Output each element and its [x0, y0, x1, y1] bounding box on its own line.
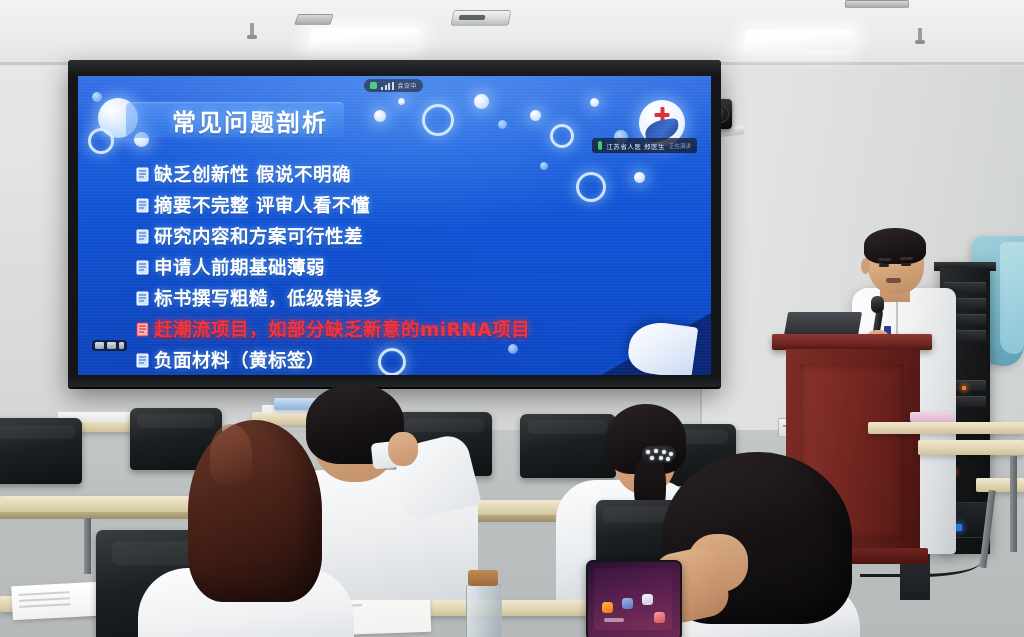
app-icon[interactable] [622, 598, 633, 609]
speaker-hair [864, 228, 926, 264]
list-item: 申请人前期基础薄弱 [134, 257, 654, 280]
desk [868, 422, 1024, 434]
status-badge[interactable]: 会议中 [364, 79, 423, 92]
sprinkler-left [250, 23, 254, 39]
list-item-text: 赶潮流项目，如部分缺乏新意的miRNA项目 [154, 320, 530, 342]
bubble-decoration [92, 92, 102, 102]
recording-dot-icon [370, 82, 377, 89]
list-item-text: 研究内容和方案可行性差 [154, 227, 363, 249]
participant-status: 正在演讲 [669, 142, 691, 150]
microphone-icon [598, 141, 602, 150]
bottle-cap [468, 570, 498, 586]
bubble-decoration [474, 94, 489, 109]
list-item: 摘要不完整 评审人看不懂 [134, 195, 654, 218]
list-item-text: 摘要不完整 评审人看不懂 [154, 196, 370, 218]
app-label [604, 618, 624, 622]
ceiling [0, 0, 1024, 66]
list-item: 研究内容和方案可行性差 [134, 226, 654, 249]
bubble-decoration [530, 110, 541, 121]
book-marker-icon [134, 352, 151, 369]
book-marker-icon [134, 228, 151, 245]
bubble-decoration [550, 124, 574, 148]
bubble-decoration [590, 98, 599, 107]
next-button[interactable] [119, 342, 124, 349]
book-marker-icon [134, 166, 151, 183]
speaker-eye [901, 263, 911, 266]
ceiling-sensor [451, 10, 512, 26]
presentation-slide: 常见问题剖析 缺乏创新性 假说不明确 [78, 76, 711, 375]
hair-clip [642, 446, 676, 463]
smartphone[interactable] [586, 560, 682, 637]
conference-room-scene: 常见问题剖析 缺乏创新性 假说不明确 [0, 0, 1024, 637]
participant-name: 江苏省人医 郑医生 [606, 141, 665, 151]
ceiling-light-left [307, 28, 421, 48]
slide-bullet-list: 缺乏创新性 假说不明确 摘要不完整 评审人看不懂 研究内容和方案可行性差 [134, 164, 654, 375]
attendee-hair [188, 420, 322, 602]
speaker-brow [878, 258, 891, 261]
microphone-icon [871, 296, 884, 313]
book-marker-icon [134, 259, 151, 276]
lectern-top [772, 334, 932, 350]
hair-highlight [210, 424, 252, 484]
speaker-eye [879, 264, 889, 267]
chair[interactable] [520, 414, 616, 478]
list-item-text: 申请人前期基础薄弱 [154, 258, 325, 280]
bubble-decoration [498, 120, 507, 129]
list-item: 负面材料（黄标签） [134, 350, 654, 373]
list-item-highlighted: 赶潮流项目，如部分缺乏新意的miRNA项目 [134, 319, 654, 342]
slide-title: 常见问题剖析 [172, 103, 328, 138]
side-table [918, 440, 1024, 455]
play-button[interactable] [107, 342, 116, 349]
page-curl-decoration [601, 313, 711, 375]
status-badge-label: 会议中 [398, 81, 417, 90]
podium-laptop[interactable] [784, 312, 862, 336]
list-item: 标书撰写粗糙，低级错误多 [134, 288, 654, 311]
speaker-mouth [886, 278, 901, 283]
slide-title-block: 常见问题剖析 [126, 102, 344, 138]
bubble-decoration [398, 98, 405, 105]
desk-leg [84, 518, 91, 574]
list-item: 缺乏创新性 假说不明确 [134, 164, 654, 187]
open-notebook [11, 582, 99, 620]
book-marker-icon [134, 321, 151, 338]
rack-led-amber [962, 386, 966, 390]
attendee-hand [388, 432, 418, 466]
prev-button[interactable] [95, 342, 104, 349]
slide-title-plate: 常见问题剖析 [126, 102, 344, 138]
book-marker-icon [134, 197, 151, 214]
display-screen[interactable]: 常见问题剖析 缺乏创新性 假说不明确 [78, 76, 711, 375]
chair[interactable] [0, 418, 82, 484]
display-top-bezel [68, 60, 721, 76]
table-leg [1010, 456, 1017, 552]
wall-display[interactable]: 常见问题剖析 缺乏创新性 假说不明确 [68, 60, 721, 387]
display-bottom-bezel [68, 375, 721, 387]
list-item-text: 标书撰写粗糙，低级错误多 [154, 289, 382, 311]
app-icon[interactable] [602, 602, 613, 613]
hanging-cloth-fold [1000, 242, 1024, 354]
bubble-decoration [374, 110, 386, 122]
bubble-decoration [422, 104, 454, 136]
speaker-brow [900, 257, 913, 260]
media-control-bar[interactable] [92, 340, 127, 351]
app-icon[interactable] [654, 612, 665, 623]
phone-screen[interactable] [594, 568, 672, 630]
book-marker-icon [134, 290, 151, 307]
participant-name-bar[interactable]: 江苏省人医 郑医生 正在演讲 [592, 138, 697, 153]
ceiling-vent [294, 14, 334, 25]
signal-bars-icon [381, 82, 394, 90]
ceiling-light-right [742, 30, 855, 50]
list-item-text: 负面材料（黄标签） [154, 351, 325, 373]
list-item-text: 缺乏创新性 假说不明确 [154, 165, 351, 187]
sprinkler-right [918, 28, 922, 44]
sensor-lens-icon [459, 15, 486, 20]
ceiling-rail [845, 0, 909, 8]
bubble-decoration [88, 128, 114, 154]
water-bottle [466, 584, 502, 637]
desk-monitor [910, 412, 954, 422]
app-icon[interactable] [642, 594, 653, 605]
